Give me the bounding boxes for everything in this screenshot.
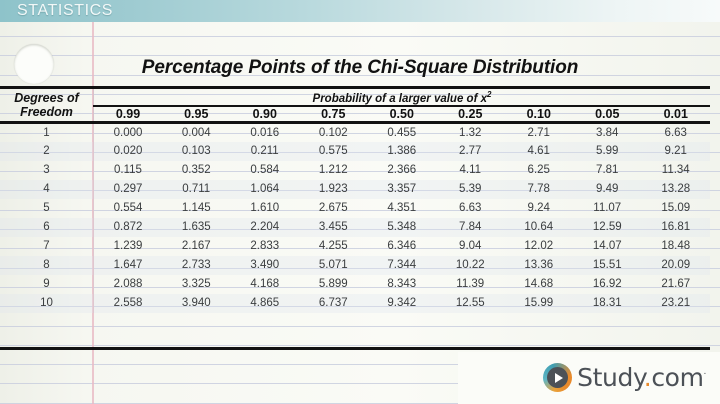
cell-value: 1.635 (162, 218, 231, 237)
cell-value: 3.325 (162, 275, 231, 294)
cell-value: 12.59 (573, 218, 642, 237)
header-row-columns: 0.99 0.95 0.90 0.75 0.50 0.25 0.10 0.05 … (0, 106, 710, 123)
cell-value: 7.84 (436, 218, 505, 237)
column-header: 0.25 (436, 106, 505, 123)
cell-degrees-of-freedom: 7 (0, 237, 94, 256)
table-head: Degrees of Freedom Probability of a larg… (0, 88, 710, 123)
cell-value: 3.455 (299, 218, 368, 237)
cell-value: 15.51 (573, 256, 642, 275)
cell-value: 0.554 (94, 199, 163, 218)
cell-value: 0.103 (162, 142, 231, 161)
cell-degrees-of-freedom: 8 (0, 256, 94, 275)
cell-value: 0.115 (94, 161, 163, 180)
paper-rule (0, 326, 720, 327)
cell-value: 2.088 (94, 275, 163, 294)
cell-value: 0.352 (162, 161, 231, 180)
cell-value: 2.71 (505, 123, 574, 142)
probability-span-text: Probability of a larger value of x (313, 92, 487, 104)
cell-value: 2.675 (299, 199, 368, 218)
cell-value: 8.343 (368, 275, 437, 294)
chi-square-table-container: Degrees of Freedom Probability of a larg… (0, 86, 710, 313)
cell-value: 16.92 (573, 275, 642, 294)
cell-value: 4.255 (299, 237, 368, 256)
column-header: 0.50 (368, 106, 437, 123)
cell-value: 0.455 (368, 123, 437, 142)
probability-span-exponent: 2 (487, 90, 491, 99)
column-header: 0.75 (299, 106, 368, 123)
table-row: 40.2970.7111.0641.9233.3575.397.789.4913… (0, 180, 710, 199)
cell-value: 3.940 (162, 294, 231, 313)
cell-value: 11.34 (642, 161, 711, 180)
table-row: 92.0883.3254.1685.8998.34311.3914.6816.9… (0, 275, 710, 294)
table-row: 102.5583.9404.8656.7379.34212.5515.9918.… (0, 294, 710, 313)
table-row: 10.0000.0040.0160.1020.4551.322.713.846.… (0, 123, 710, 142)
cell-degrees-of-freedom: 10 (0, 294, 94, 313)
cell-value: 23.21 (642, 294, 711, 313)
cell-value: 12.55 (436, 294, 505, 313)
cell-value: 0.004 (162, 123, 231, 142)
cell-value: 9.24 (505, 199, 574, 218)
cell-degrees-of-freedom: 2 (0, 142, 94, 161)
cell-value: 9.21 (642, 142, 711, 161)
cell-degrees-of-freedom: 5 (0, 199, 94, 218)
dof-line-1: Degrees of (0, 91, 93, 105)
cell-value: 7.81 (573, 161, 642, 180)
dof-line-2: Freedom (0, 105, 93, 119)
cell-value: 3.490 (231, 256, 300, 275)
table-row: 71.2392.1672.8334.2556.3469.0412.0214.07… (0, 237, 710, 256)
cell-value: 2.366 (368, 161, 437, 180)
cell-value: 1.647 (94, 256, 163, 275)
cell-value: 6.63 (642, 123, 711, 142)
cell-value: 5.899 (299, 275, 368, 294)
cell-value: 13.28 (642, 180, 711, 199)
table-row: 30.1150.3520.5841.2122.3664.116.257.8111… (0, 161, 710, 180)
cell-value: 7.344 (368, 256, 437, 275)
cell-value: 11.07 (573, 199, 642, 218)
chi-square-table: Degrees of Freedom Probability of a larg… (0, 86, 710, 313)
cell-value: 1.923 (299, 180, 368, 199)
cell-value: 9.342 (368, 294, 437, 313)
probability-span-header: Probability of a larger value of x2 (94, 88, 711, 107)
statistics-banner: STATISTICS (0, 0, 720, 22)
cell-value: 4.351 (368, 199, 437, 218)
cell-value: 6.25 (505, 161, 574, 180)
cell-degrees-of-freedom: 3 (0, 161, 94, 180)
cell-degrees-of-freedom: 1 (0, 123, 94, 142)
header-row-span: Degrees of Freedom Probability of a larg… (0, 88, 710, 107)
cell-value: 0.102 (299, 123, 368, 142)
table-row: 81.6472.7333.4905.0717.34410.2213.3615.5… (0, 256, 710, 275)
column-header: 0.10 (505, 106, 574, 123)
cell-value: 5.39 (436, 180, 505, 199)
cell-value: 2.558 (94, 294, 163, 313)
cell-value: 4.61 (505, 142, 574, 161)
column-header: 0.01 (642, 106, 711, 123)
cell-value: 0.020 (94, 142, 163, 161)
column-header: 0.90 (231, 106, 300, 123)
cell-degrees-of-freedom: 9 (0, 275, 94, 294)
cell-value: 15.09 (642, 199, 711, 218)
cell-value: 14.07 (573, 237, 642, 256)
cell-value: 9.04 (436, 237, 505, 256)
degrees-of-freedom-header: Degrees of Freedom (0, 88, 94, 123)
cell-value: 16.81 (642, 218, 711, 237)
cell-value: 2.733 (162, 256, 231, 275)
cell-value: 4.865 (231, 294, 300, 313)
cell-value: 10.64 (505, 218, 574, 237)
cell-degrees-of-freedom: 6 (0, 218, 94, 237)
cell-value: 5.99 (573, 142, 642, 161)
cell-value: 1.239 (94, 237, 163, 256)
cell-value: 12.02 (505, 237, 574, 256)
logo-text-tld: com (651, 363, 703, 392)
table-row: 50.5541.1451.6102.6754.3516.639.2411.071… (0, 199, 710, 218)
banner-label: STATISTICS (17, 2, 113, 20)
cell-value: 4.168 (231, 275, 300, 294)
cell-value: 2.204 (231, 218, 300, 237)
cell-value: 5.071 (299, 256, 368, 275)
play-circle-icon (543, 363, 572, 392)
column-header: 0.95 (162, 106, 231, 123)
cell-degrees-of-freedom: 4 (0, 180, 94, 199)
table-row: 20.0200.1030.2110.5751.3862.774.615.999.… (0, 142, 710, 161)
cell-value: 1.212 (299, 161, 368, 180)
column-header: 0.05 (573, 106, 642, 123)
cell-value: 1.386 (368, 142, 437, 161)
cell-value: 0.016 (231, 123, 300, 142)
logo-text-main: Study (577, 363, 644, 392)
cell-value: 3.84 (573, 123, 642, 142)
cell-value: 5.348 (368, 218, 437, 237)
cell-value: 7.78 (505, 180, 574, 199)
study-com-logo[interactable]: Study.com· (543, 363, 706, 392)
logo-wordmark: Study.com· (577, 365, 706, 390)
cell-value: 0.000 (94, 123, 163, 142)
cell-value: 2.833 (231, 237, 300, 256)
page-title: Percentage Points of the Chi-Square Dist… (0, 57, 720, 79)
cell-value: 13.36 (505, 256, 574, 275)
cell-value: 11.39 (436, 275, 505, 294)
cell-value: 0.711 (162, 180, 231, 199)
cell-value: 18.48 (642, 237, 711, 256)
cell-value: 1.064 (231, 180, 300, 199)
cell-value: 20.09 (642, 256, 711, 275)
cell-value: 0.297 (94, 180, 163, 199)
cell-value: 2.77 (436, 142, 505, 161)
cell-value: 0.872 (94, 218, 163, 237)
cell-value: 0.211 (231, 142, 300, 161)
table-row: 60.8721.6352.2043.4555.3487.8410.6412.59… (0, 218, 710, 237)
table-body: 10.0000.0040.0160.1020.4551.322.713.846.… (0, 123, 710, 313)
paper-rule (0, 345, 720, 346)
cell-value: 3.357 (368, 180, 437, 199)
cell-value: 6.63 (436, 199, 505, 218)
cell-value: 14.68 (505, 275, 574, 294)
column-header: 0.99 (94, 106, 163, 123)
cell-value: 21.67 (642, 275, 711, 294)
cell-value: 1.610 (231, 199, 300, 218)
cell-value: 1.145 (162, 199, 231, 218)
paper-rule (0, 36, 720, 37)
cell-value: 4.11 (436, 161, 505, 180)
paper-rule (0, 55, 720, 56)
cell-value: 6.346 (368, 237, 437, 256)
cell-value: 2.167 (162, 237, 231, 256)
cell-value: 6.737 (299, 294, 368, 313)
cell-value: 18.31 (573, 294, 642, 313)
logo-trademark: · (704, 370, 706, 380)
cell-value: 1.32 (436, 123, 505, 142)
cell-value: 9.49 (573, 180, 642, 199)
cell-value: 10.22 (436, 256, 505, 275)
cell-value: 0.584 (231, 161, 300, 180)
cell-value: 15.99 (505, 294, 574, 313)
cell-value: 0.575 (299, 142, 368, 161)
table-bottom-border (0, 347, 710, 350)
